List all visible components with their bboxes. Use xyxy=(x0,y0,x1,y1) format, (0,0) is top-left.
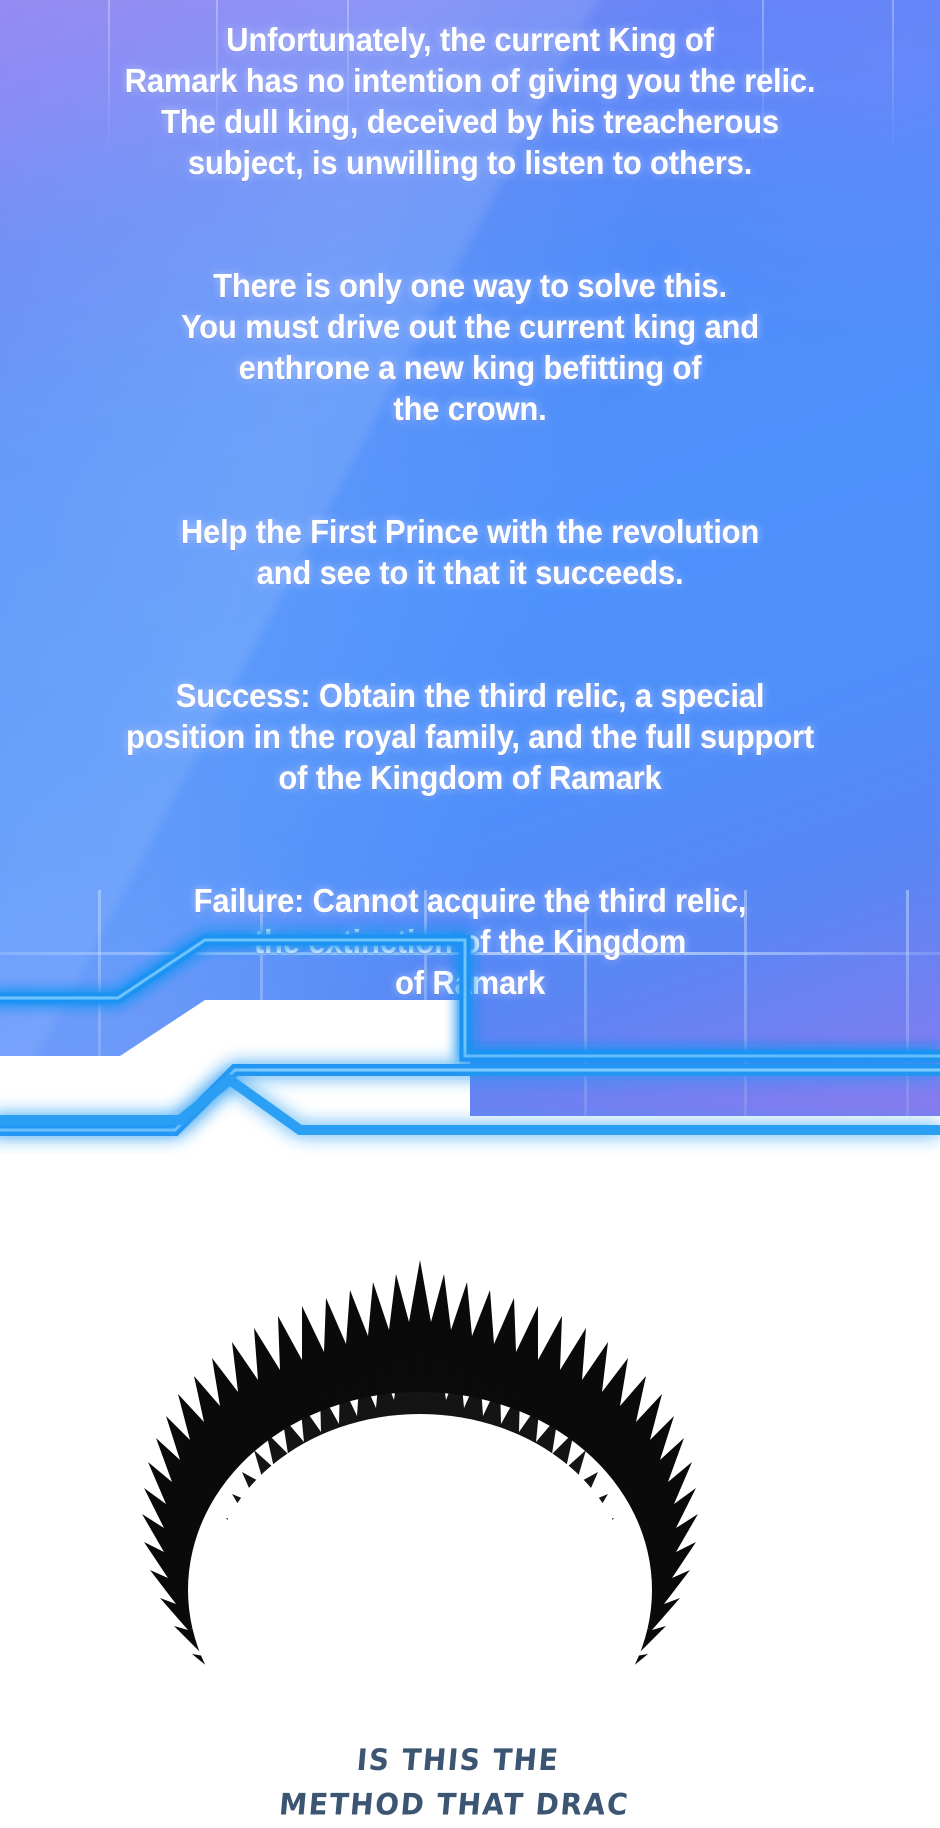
dialogue-text: IS THIS THE METHOD THAT DRAC MENTIONED?! xyxy=(138,1738,770,1828)
quest-paragraph: There is only one way to solve this. You… xyxy=(60,265,880,429)
quest-narration-text: Unfortunately, the current King of Ramar… xyxy=(28,0,912,1044)
quest-system-panel: Unfortunately, the current King of Ramar… xyxy=(0,0,940,1155)
bottom-panel xyxy=(0,1155,940,1828)
quest-paragraph: Failure: Cannot acquire the third relic,… xyxy=(60,880,880,1003)
quest-paragraph: Success: Obtain the third relic, a speci… xyxy=(60,675,880,798)
quest-paragraph: Unfortunately, the current King of Ramar… xyxy=(60,19,880,183)
quest-paragraph: Help the First Prince with the revolutio… xyxy=(60,511,880,593)
webtoon-page: Unfortunately, the current King of Ramar… xyxy=(0,0,940,1828)
burst-inner-fill-2 xyxy=(210,1414,630,1766)
